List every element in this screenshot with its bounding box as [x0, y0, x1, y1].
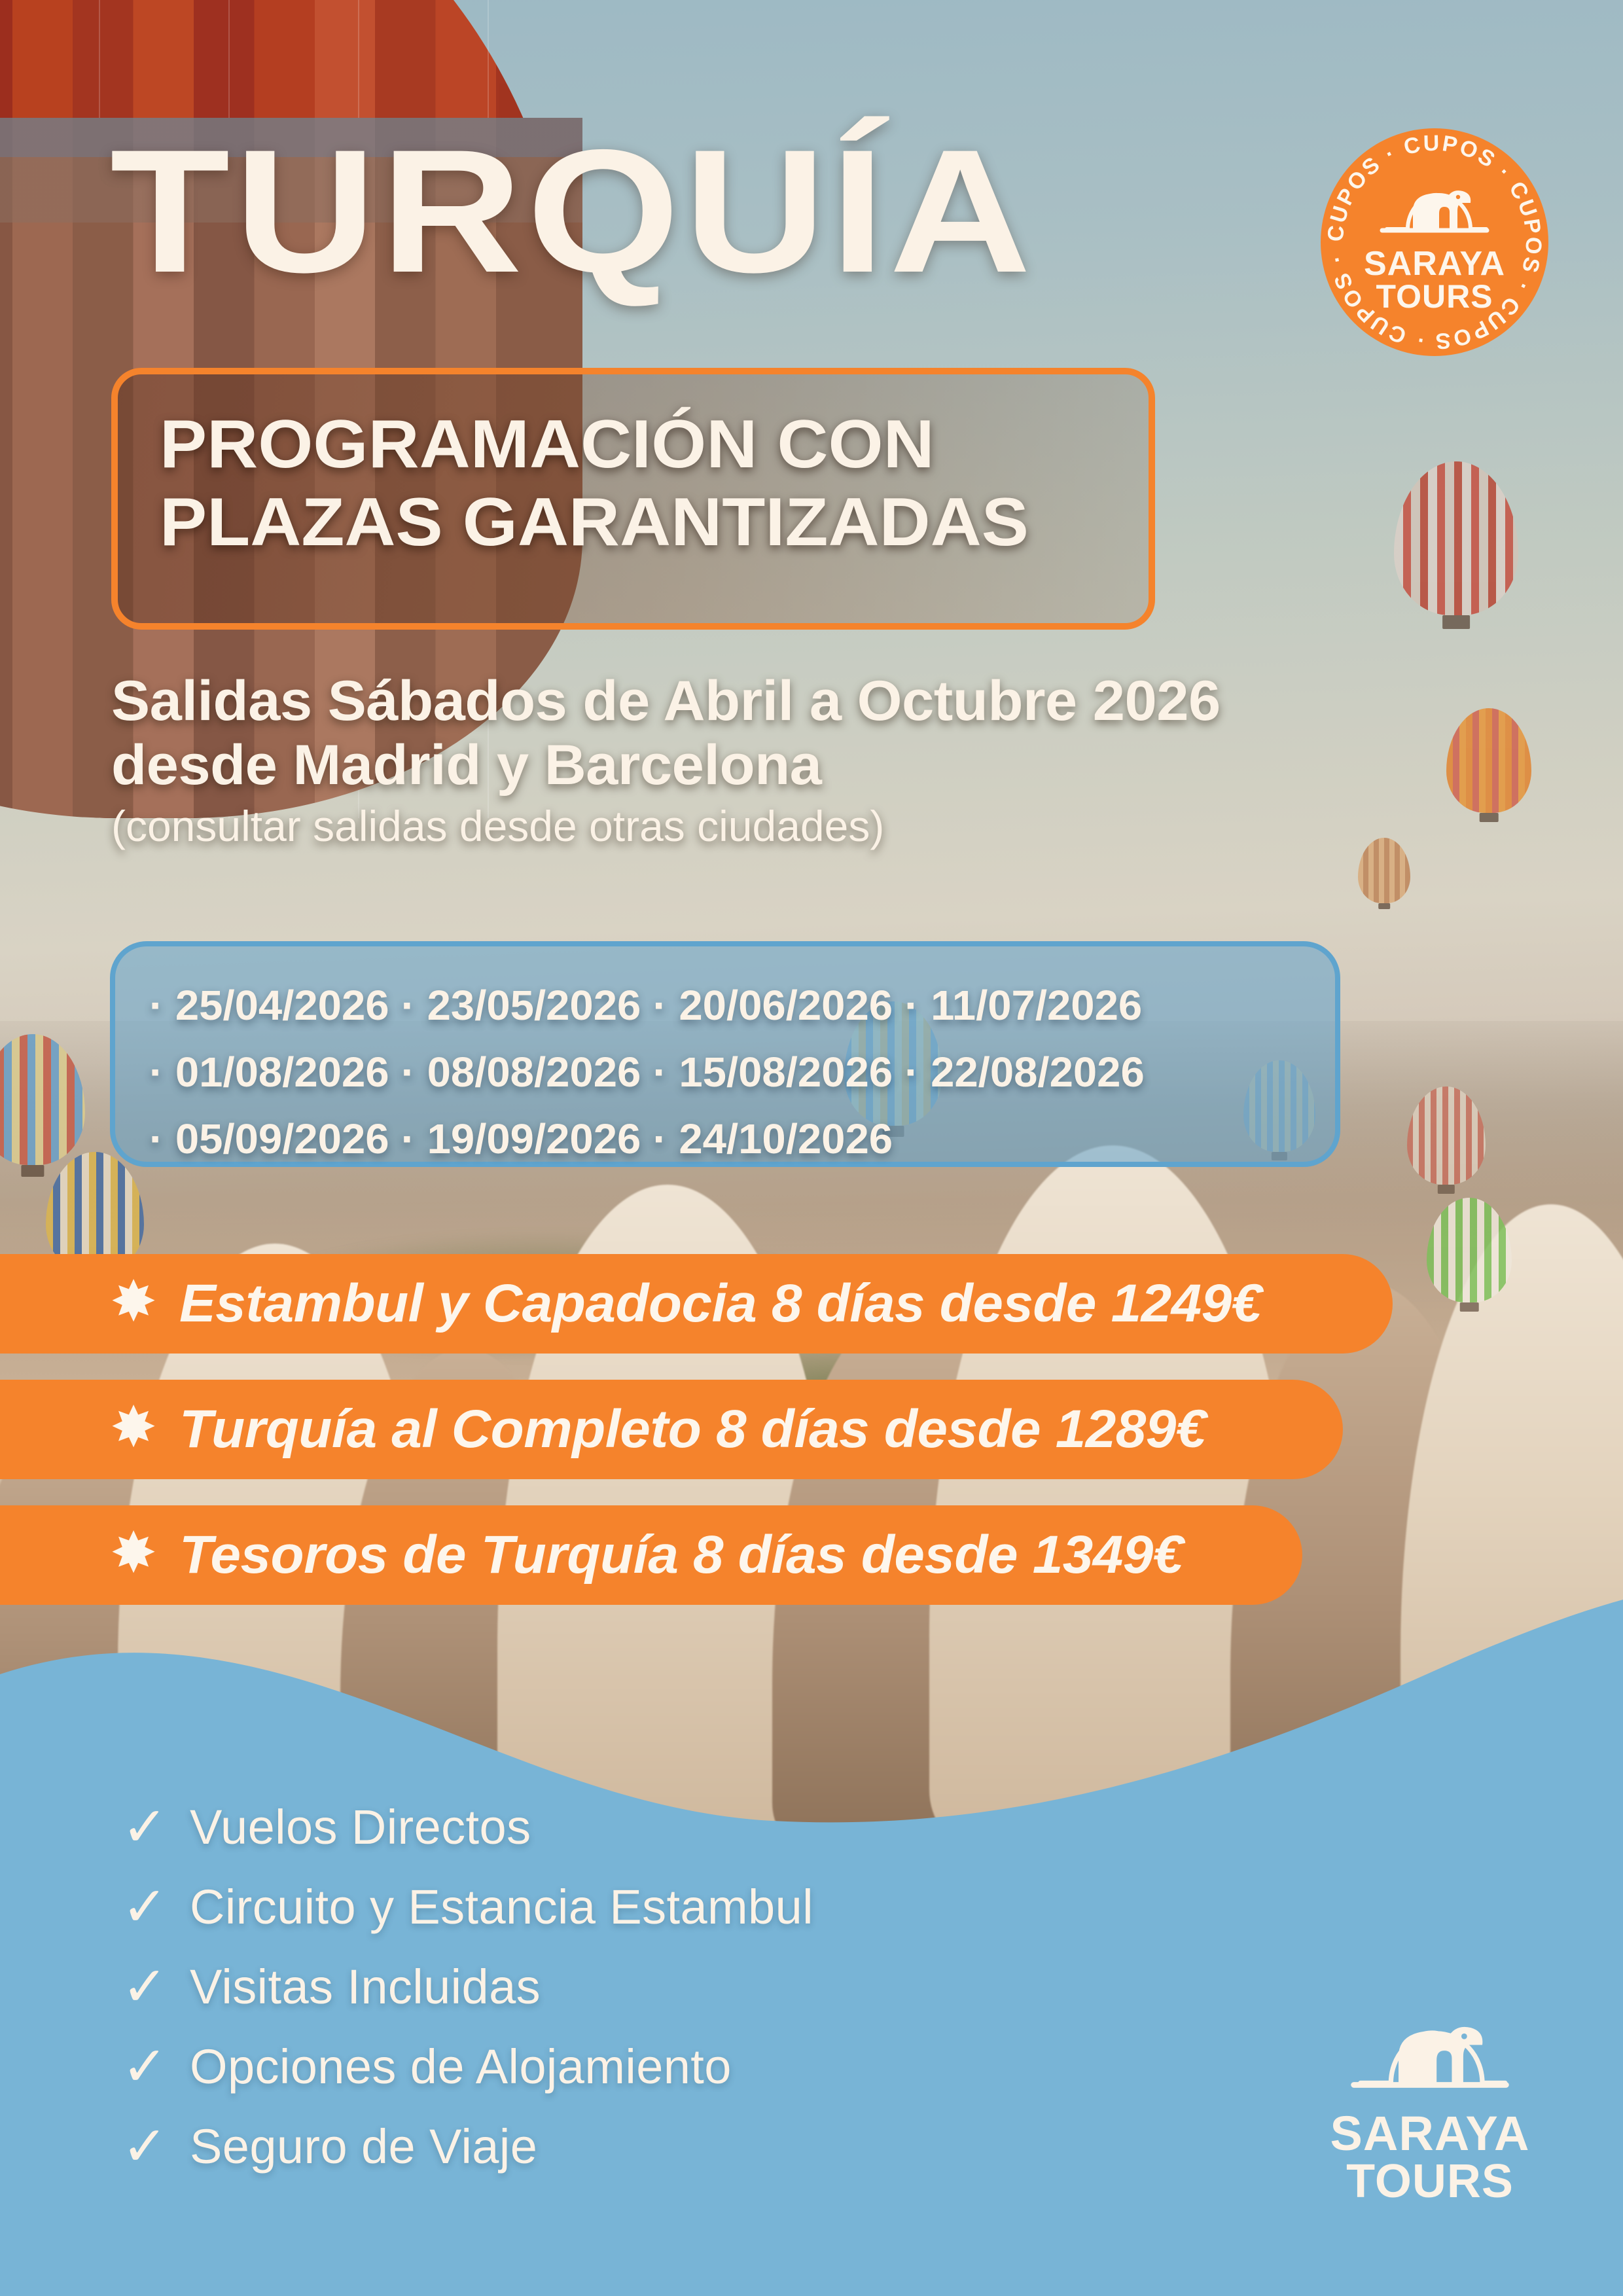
- poster-root: TURQUÍA CUPOS · CUPOS · CUPOS · CUPOS · …: [0, 0, 1623, 2296]
- offer-banner-turquia-completo[interactable]: ✸ Turquía al Completo 8 días desde 1289€: [0, 1380, 1343, 1479]
- sparkle-star-icon: ✸: [110, 1399, 157, 1456]
- footer-brand-line2: TOURS: [1299, 2158, 1561, 2205]
- footer-brand-line1: SARAYA: [1299, 2109, 1561, 2158]
- sparkle-star-icon: ✸: [110, 1274, 157, 1330]
- dates-row-1: · 25/04/2026 · 23/05/2026 · 20/06/2026 ·…: [149, 984, 1142, 1026]
- saraya-camel-arch-icon: [1348, 1990, 1512, 2094]
- footer-brand-logo: SARAYA TOURS: [1299, 1990, 1561, 2205]
- cupos-ring-label: CUPOS · CUPOS · CUPOS · CUPOS · CUPOS ·: [1323, 131, 1546, 354]
- distant-hot-air-balloon: [1446, 708, 1531, 813]
- distant-hot-air-balloon: [1394, 461, 1518, 615]
- check-icon: ✓: [122, 2119, 190, 2174]
- footer-brand-name: SARAYA TOURS: [1299, 2109, 1561, 2205]
- headline-line-2: PLAZAS GARANTIZADAS: [160, 484, 1168, 562]
- checklist-label: Circuito y Estancia Estambul: [190, 1879, 813, 1935]
- check-icon: ✓: [122, 1799, 190, 1854]
- checklist-item: ✓ Vuelos Directos: [122, 1787, 1103, 1867]
- departures-note: (consultar salidas desde otras ciudades): [111, 801, 1394, 852]
- dates-row-2: · 01/08/2026 · 08/08/2026 · 15/08/2026 ·…: [149, 1051, 1145, 1093]
- badge-brand-line1: SARAYA: [1321, 247, 1548, 281]
- offer-text: Turquía al Completo 8 días desde 1289€: [179, 1399, 1206, 1460]
- checklist-item: ✓ Opciones de Alojamiento: [122, 2026, 1103, 2106]
- check-icon: ✓: [122, 1959, 190, 2014]
- checklist-label: Seguro de Viaje: [190, 2119, 537, 2174]
- badge-brand-line2: TOURS: [1321, 281, 1548, 313]
- offer-text: Tesoros de Turquía 8 días desde 1349€: [179, 1524, 1183, 1586]
- departures-line-2: desde Madrid y Barcelona: [111, 733, 1433, 797]
- included-checklist: ✓ Vuelos Directos ✓ Circuito y Estancia …: [122, 1787, 1103, 2186]
- checklist-item: ✓ Seguro de Viaje: [122, 2106, 1103, 2186]
- headline-line-1: PROGRAMACIÓN CON: [160, 406, 1168, 484]
- sparkle-star-icon: ✸: [110, 1525, 157, 1581]
- checklist-item: ✓ Circuito y Estancia Estambul: [122, 1867, 1103, 1946]
- poster-title: TURQUÍA: [110, 123, 1035, 298]
- departures-line-1: Salidas Sábados de Abril a Octubre 2026: [111, 669, 1433, 733]
- saraya-camel-arch-icon: [1379, 165, 1490, 237]
- dates-row-3: · 05/09/2026 · 19/09/2026 · 24/10/2026: [149, 1118, 893, 1160]
- badge-brand-name: SARAYA TOURS: [1321, 247, 1548, 313]
- offer-banner-estambul-capadocia[interactable]: ✸ Estambul y Capadocia 8 días desde 1249…: [0, 1254, 1393, 1354]
- headline-text: PROGRAMACIÓN CON PLAZAS GARANTIZADAS: [160, 406, 1168, 561]
- checklist-item: ✓ Visitas Incluidas: [122, 1946, 1103, 2026]
- offer-text: Estambul y Capadocia 8 días desde 1249€: [179, 1273, 1262, 1335]
- cupos-ring-text: CUPOS · CUPOS · CUPOS · CUPOS · CUPOS ·: [1321, 128, 1548, 356]
- checklist-label: Vuelos Directos: [190, 1799, 531, 1855]
- offer-banner-tesoros-turquia[interactable]: ✸ Tesoros de Turquía 8 días desde 1349€: [0, 1505, 1302, 1605]
- departures-block: Salidas Sábados de Abril a Octubre 2026 …: [111, 669, 1394, 852]
- checklist-label: Opciones de Alojamiento: [190, 2039, 732, 2094]
- check-icon: ✓: [122, 2039, 190, 2094]
- check-icon: ✓: [122, 1879, 190, 1934]
- checklist-label: Visitas Incluidas: [190, 1959, 541, 2015]
- headline-box: PROGRAMACIÓN CON PLAZAS GARANTIZADAS: [111, 368, 1155, 630]
- cupos-badge: CUPOS · CUPOS · CUPOS · CUPOS · CUPOS · …: [1321, 128, 1548, 356]
- departure-dates-box: · 25/04/2026 · 23/05/2026 · 20/06/2026 ·…: [110, 941, 1340, 1167]
